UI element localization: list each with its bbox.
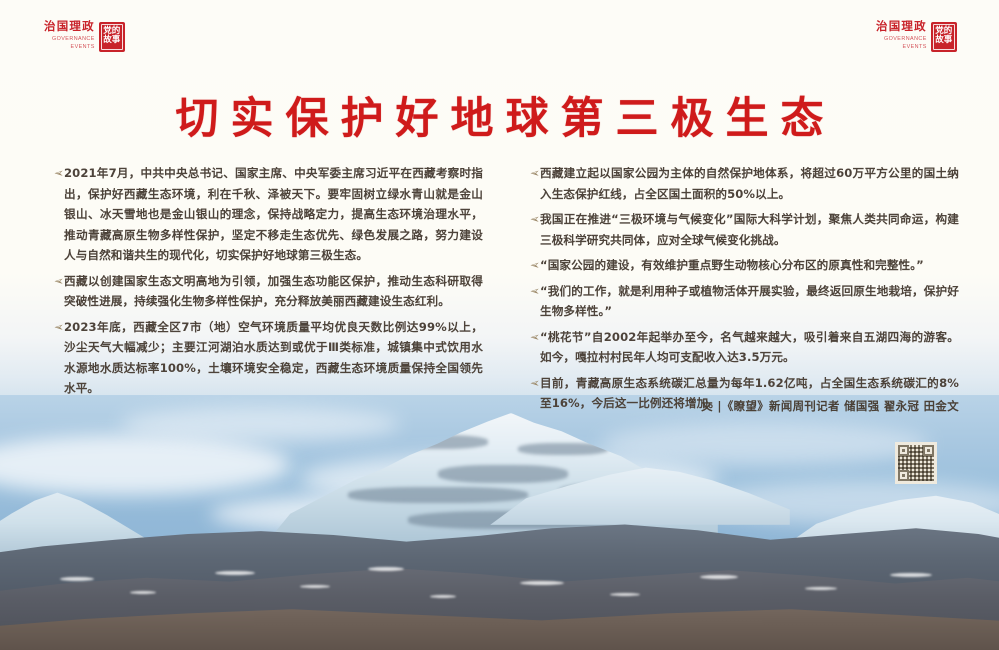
byline: 文 |《瞭望》新闻周刊记者 储国强 翟永冠 田金文 [701, 398, 959, 414]
bullet-text: “国家公园的建设，有效维护重点野生动物核心分布区的原真性和完整性。” [540, 255, 959, 276]
qr-code[interactable] [895, 442, 937, 484]
brand-wordmark: 治国理政 GOVERNANCE EVENTS [876, 22, 927, 51]
bullet-item: ➢2023年底，西藏全区7市（地）空气环境质量平均优良天数比例达99%以上，沙尘… [45, 317, 483, 399]
mountain-photo: 在西藏日喀则拍摄的珠穆朗玛峰 （2022 年 3 月 12 日摄） 周衍瑞／摄 [0, 395, 999, 650]
bullet-text: “桃花节”自2002年起举办至今，名气越来越大，吸引着来自五湖四海的游客。如今，… [540, 327, 959, 368]
snow-streak [430, 595, 456, 598]
brand-name-cn: 治国理政 [876, 22, 927, 34]
bullet-arrow-icon: ➢ [521, 209, 540, 230]
red-seal-icon: 党的故事 [99, 22, 125, 52]
poster-page: 在西藏日喀则拍摄的珠穆朗玛峰 （2022 年 3 月 12 日摄） 周衍瑞／摄 … [0, 0, 999, 650]
article-column-right: ➢西藏建立起以国家公园为主体的自然保护地体系，将超过60万平方公里的国土纳入生态… [521, 163, 959, 419]
snow-streak [805, 587, 837, 590]
snow-streak [300, 585, 330, 588]
page-title: 切实保护好地球第三极生态 [0, 84, 999, 146]
bullet-arrow-icon: ➢ [45, 163, 64, 184]
seal-text: 党的故事 [931, 22, 957, 52]
bullet-item: ➢“我们的工作，就是利用种子或植物活体开展实验，最终返回原生地栽培，保护好生物多… [521, 281, 959, 322]
brand-logo-right[interactable]: 治国理政 GOVERNANCE EVENTS 党的故事 [876, 22, 957, 52]
cloud [600, 423, 930, 465]
article-body: ➢2021年7月，中共中央总书记、国家主席、中央军委主席习近平在西藏考察时指出，… [45, 163, 960, 419]
qr-finder-icon [923, 445, 934, 456]
bullet-item: ➢2021年7月，中共中央总书记、国家主席、中央军委主席习近平在西藏考察时指出，… [45, 163, 483, 266]
article-column-left: ➢2021年7月，中共中央总书记、国家主席、中央军委主席习近平在西藏考察时指出，… [45, 163, 483, 419]
snow-streak [890, 573, 932, 577]
bullet-arrow-icon: ➢ [521, 373, 540, 394]
bullet-arrow-icon: ➢ [45, 317, 64, 338]
bullet-arrow-icon: ➢ [521, 281, 540, 302]
bullet-item: ➢我国正在推进“三极环境与气候变化”国际大科学计划，聚焦人类共同命运，构建三极科… [521, 209, 959, 250]
bullet-text: 西藏建立起以国家公园为主体的自然保护地体系，将超过60万平方公里的国土纳入生态保… [540, 163, 959, 204]
bullet-arrow-icon: ➢ [521, 255, 540, 276]
bullet-item: ➢“国家公园的建设，有效维护重点野生动物核心分布区的原真性和完整性。” [521, 255, 959, 276]
brand-name-en: GOVERNANCE EVENTS [44, 36, 95, 52]
snow-streak [130, 591, 156, 594]
qr-finder-icon [898, 445, 909, 456]
snow-streak [700, 575, 738, 579]
bullet-arrow-icon: ➢ [45, 271, 64, 292]
bullet-text: 2023年底，西藏全区7市（地）空气环境质量平均优良天数比例达99%以上，沙尘天… [64, 317, 483, 399]
snow-streak [60, 577, 94, 581]
brand-logo-left[interactable]: 治国理政 GOVERNANCE EVENTS 党的故事 [44, 22, 125, 52]
brand-name-en-line2: EVENTS [876, 44, 927, 52]
qr-pattern [898, 445, 934, 481]
brand-name-en-line2: EVENTS [44, 44, 95, 52]
bullet-item: ➢“桃花节”自2002年起举办至今，名气越来越大，吸引着来自五湖四海的游客。如今… [521, 327, 959, 368]
seal-text: 党的故事 [99, 22, 125, 52]
brand-wordmark: 治国理政 GOVERNANCE EVENTS [44, 22, 95, 51]
snow-streak [215, 571, 255, 575]
bullet-text: 我国正在推进“三极环境与气候变化”国际大科学计划，聚焦人类共同命运，构建三极科学… [540, 209, 959, 250]
bullet-text: 2021年7月，中共中央总书记、国家主席、中央军委主席习近平在西藏考察时指出，保… [64, 163, 483, 266]
snow-streak [610, 593, 640, 596]
brand-name-en-line1: GOVERNANCE [44, 36, 95, 44]
bullet-item: ➢西藏以创建国家生态文明高地为引领，加强生态功能区保护，推动生态科研取得突破性进… [45, 271, 483, 312]
snow-streak [368, 567, 404, 571]
qr-finder-icon [898, 470, 909, 481]
bullet-item: ➢西藏建立起以国家公园为主体的自然保护地体系，将超过60万平方公里的国土纳入生态… [521, 163, 959, 204]
bullet-text: 西藏以创建国家生态文明高地为引领，加强生态功能区保护，推动生态科研取得突破性进展… [64, 271, 483, 312]
brand-name-en: GOVERNANCE EVENTS [876, 36, 927, 52]
snow-streak [520, 581, 564, 585]
red-seal-icon: 党的故事 [931, 22, 957, 52]
bullet-text: “我们的工作，就是利用种子或植物活体开展实验，最终返回原生地栽培，保护好生物多样… [540, 281, 959, 322]
brand-name-en-line1: GOVERNANCE [876, 36, 927, 44]
bullet-arrow-icon: ➢ [521, 163, 540, 184]
brand-name-cn: 治国理政 [44, 22, 95, 34]
bullet-arrow-icon: ➢ [521, 327, 540, 348]
